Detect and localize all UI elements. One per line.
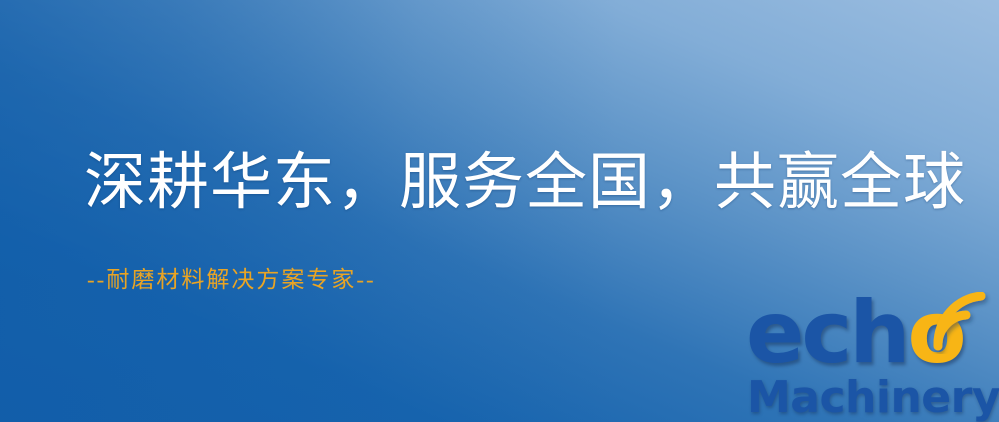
logo-brand-line: Machinery®	[747, 376, 999, 420]
banner-headline: 深耕华东，服务全国，共赢全球	[84, 152, 966, 214]
logo-wordmark-prefix: ech	[746, 283, 908, 383]
promo-banner: 深耕华东，服务全国，共赢全球 --耐磨材料解决方案专家-- echo Machi…	[0, 0, 999, 422]
company-logo[interactable]: echo Machinery®	[744, 294, 994, 422]
logo-machinery-text: Machinery	[747, 372, 999, 422]
banner-subtitle: --耐磨材料解决方案专家--	[87, 268, 376, 291]
signal-arcs-icon	[930, 292, 994, 354]
logo-wordmark: echo	[744, 294, 994, 376]
